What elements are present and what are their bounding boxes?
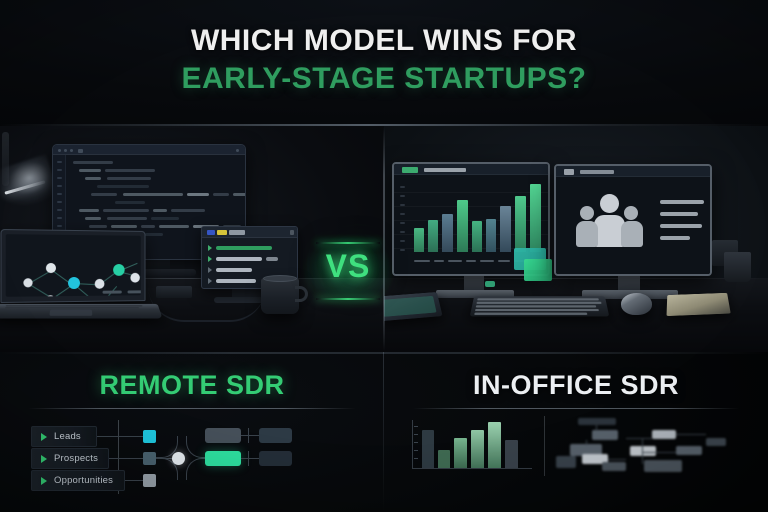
- laptop-network-chart: [0, 229, 145, 303]
- chart-bar: [428, 220, 438, 252]
- chart-bar: [442, 214, 453, 252]
- flow-item-prospects[interactable]: Prospects: [31, 448, 109, 469]
- remote-flow-diagram: Leads Prospects Opportunities: [0, 414, 384, 512]
- flow-output-box: [205, 428, 241, 443]
- mini-bar: [438, 450, 450, 468]
- graph-node: [46, 295, 55, 297]
- laptop-screen: [6, 234, 141, 297]
- window-dot-maximize-icon: [70, 149, 73, 152]
- remote-label-underline: [28, 408, 356, 409]
- graph-node: [95, 279, 105, 289]
- in-office-sdr-label: IN-OFFICE SDR: [384, 370, 768, 401]
- chart-bar: [457, 200, 468, 252]
- infographic-canvas: WHICH MODEL WINS FOR EARLY-STAGE STARTUP…: [0, 0, 768, 512]
- bottom-center-divider: [383, 352, 384, 512]
- window-dot-minimize-icon: [64, 149, 67, 152]
- versus-line-top: [316, 242, 380, 244]
- desk-edge-right: [384, 278, 768, 279]
- laptop-keyboard-base: [0, 304, 163, 319]
- laptop-trackpad: [49, 310, 92, 316]
- flow-hub-node: [172, 452, 185, 465]
- flow-item-label: Opportunities: [54, 475, 113, 486]
- title-line-2: EARLY-STAGE STARTUPS?: [0, 60, 768, 98]
- flow-item-label: Leads: [54, 431, 81, 442]
- bottom-band: REMOTE SDR Leads Prospects Opportunities: [0, 352, 768, 512]
- scene-band: VS: [0, 126, 768, 352]
- flow-result-box: [259, 451, 292, 466]
- flow-result-box: [259, 428, 292, 443]
- flow-node-opportunities: [143, 474, 156, 487]
- task-panel-titlebar: [202, 227, 297, 238]
- flow-output-box-highlight: [205, 451, 241, 466]
- computer-mouse: [621, 293, 652, 315]
- chart-bar: [515, 196, 526, 252]
- chart-bar: [472, 221, 482, 252]
- flow-item-leads[interactable]: Leads: [31, 426, 97, 447]
- remote-sdr-label: REMOTE SDR: [0, 370, 384, 401]
- window-action-icon: [236, 149, 239, 152]
- graph-node: [23, 278, 32, 287]
- team-group-icon: [578, 194, 650, 252]
- accent-chip: [485, 281, 495, 287]
- keyboard: [470, 296, 610, 316]
- mug-rim: [263, 275, 297, 282]
- dashboard-titlebar: [394, 164, 548, 175]
- office-label-underline: [412, 408, 740, 409]
- versus-badge: VS: [312, 232, 384, 314]
- flow-item-label: Prospects: [54, 453, 98, 464]
- mini-bar: [422, 430, 434, 468]
- in-office-sdr-panel: IN-OFFICE SDR: [384, 352, 768, 512]
- team-dashboard-monitor: [554, 164, 712, 276]
- header-band: WHICH MODEL WINS FOR EARLY-STAGE STARTUP…: [0, 0, 768, 126]
- mini-bar: [454, 438, 467, 468]
- graph-node: [130, 273, 139, 283]
- team-dashboard-titlebar: [556, 166, 710, 177]
- graph-node: [68, 277, 80, 289]
- play-arrow-icon: [41, 455, 47, 463]
- chart-bar: [500, 206, 511, 252]
- tablet-screen: [384, 296, 437, 317]
- office-org-chart: [556, 416, 752, 474]
- flow-node-leads: [143, 430, 156, 443]
- paper-notebook: [667, 293, 731, 316]
- graph-node: [113, 264, 125, 276]
- flow-node-prospects: [143, 452, 156, 465]
- office-visuals: [384, 414, 768, 512]
- coffee-mug-left: [261, 278, 299, 314]
- play-arrow-icon: [41, 477, 47, 485]
- cable: [148, 286, 266, 322]
- page-title: WHICH MODEL WINS FOR EARLY-STAGE STARTUP…: [0, 22, 768, 98]
- chart-bar: [530, 184, 541, 252]
- code-editor-titlebar: [53, 145, 245, 155]
- monitor-2-screen: [556, 166, 710, 274]
- window-menu-icon: [78, 149, 83, 153]
- office-workspace-photo: [384, 126, 768, 352]
- chart-bar: [414, 228, 424, 252]
- graph-node: [46, 263, 56, 273]
- accent-square-green: [524, 259, 552, 281]
- play-arrow-icon: [41, 433, 47, 441]
- mini-bar: [505, 440, 518, 468]
- chart-bar: [486, 219, 496, 252]
- title-line-1: WHICH MODEL WINS FOR: [0, 22, 768, 60]
- mini-bar: [471, 430, 484, 468]
- window-dot-close-icon: [58, 149, 61, 152]
- versus-line-bottom: [316, 298, 380, 300]
- flow-item-opportunities[interactable]: Opportunities: [31, 470, 125, 491]
- mini-bar: [488, 422, 501, 468]
- remote-sdr-panel: REMOTE SDR Leads Prospects Opportunities: [0, 352, 384, 512]
- office-mini-bar-chart: [412, 420, 532, 472]
- coffee-mug-right: [724, 252, 751, 282]
- bar-chart-plot: [412, 182, 540, 252]
- versus-label: VS: [312, 248, 384, 285]
